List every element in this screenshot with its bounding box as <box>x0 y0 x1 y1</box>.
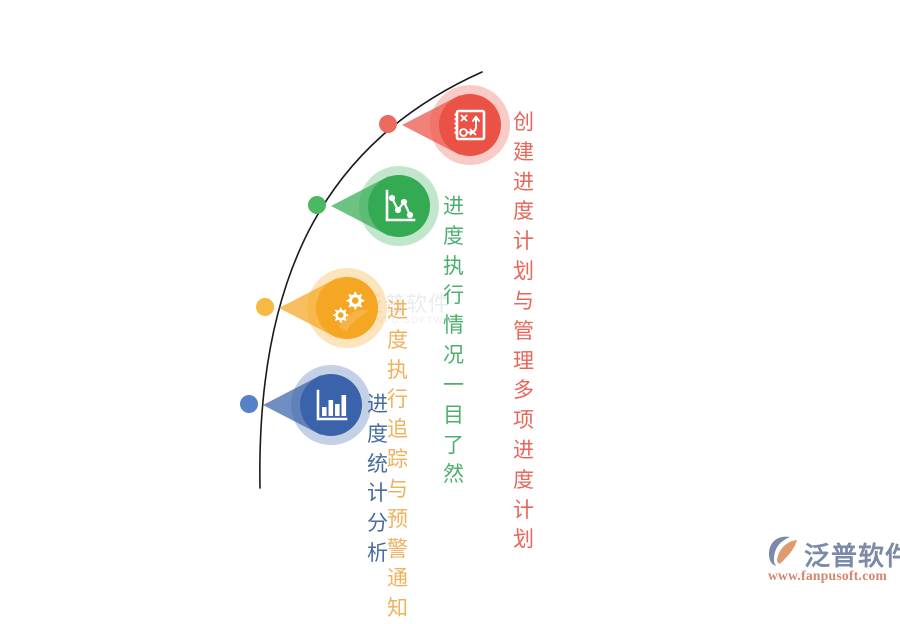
item-label-execution-status: 进度执行情况一目 了然 <box>443 192 465 490</box>
item-label-statistics-analysis: 进度统计分析 <box>367 390 389 569</box>
pin-marker-execution-status[interactable] <box>329 163 449 249</box>
brand-logo[interactable]: 泛普软件 www.fanpusoft.com <box>766 536 892 588</box>
arc-dot-create-plan[interactable] <box>373 109 403 139</box>
arc-dot-tracking-alert[interactable] <box>250 292 280 322</box>
item-label-tracking-alert: 进度执行追踪与预 警通知 <box>387 296 409 624</box>
arc-dot-execution-status[interactable] <box>302 190 332 220</box>
fanpu-logo-mark-icon <box>766 534 802 568</box>
arc-dot-statistics-analysis[interactable] <box>234 389 264 419</box>
pin-marker-create-plan[interactable] <box>400 82 520 168</box>
pin-marker-tracking-alert[interactable] <box>277 265 397 351</box>
brand-url-text: www.fanpusoft.com <box>768 568 887 584</box>
pin-marker-statistics-analysis[interactable] <box>261 362 381 448</box>
item-label-create-plan: 创建进度计划与管 理多项进度计划 <box>513 108 535 555</box>
infographic-canvas: 泛普软件 FANPU SOFTWARE <box>0 0 900 600</box>
